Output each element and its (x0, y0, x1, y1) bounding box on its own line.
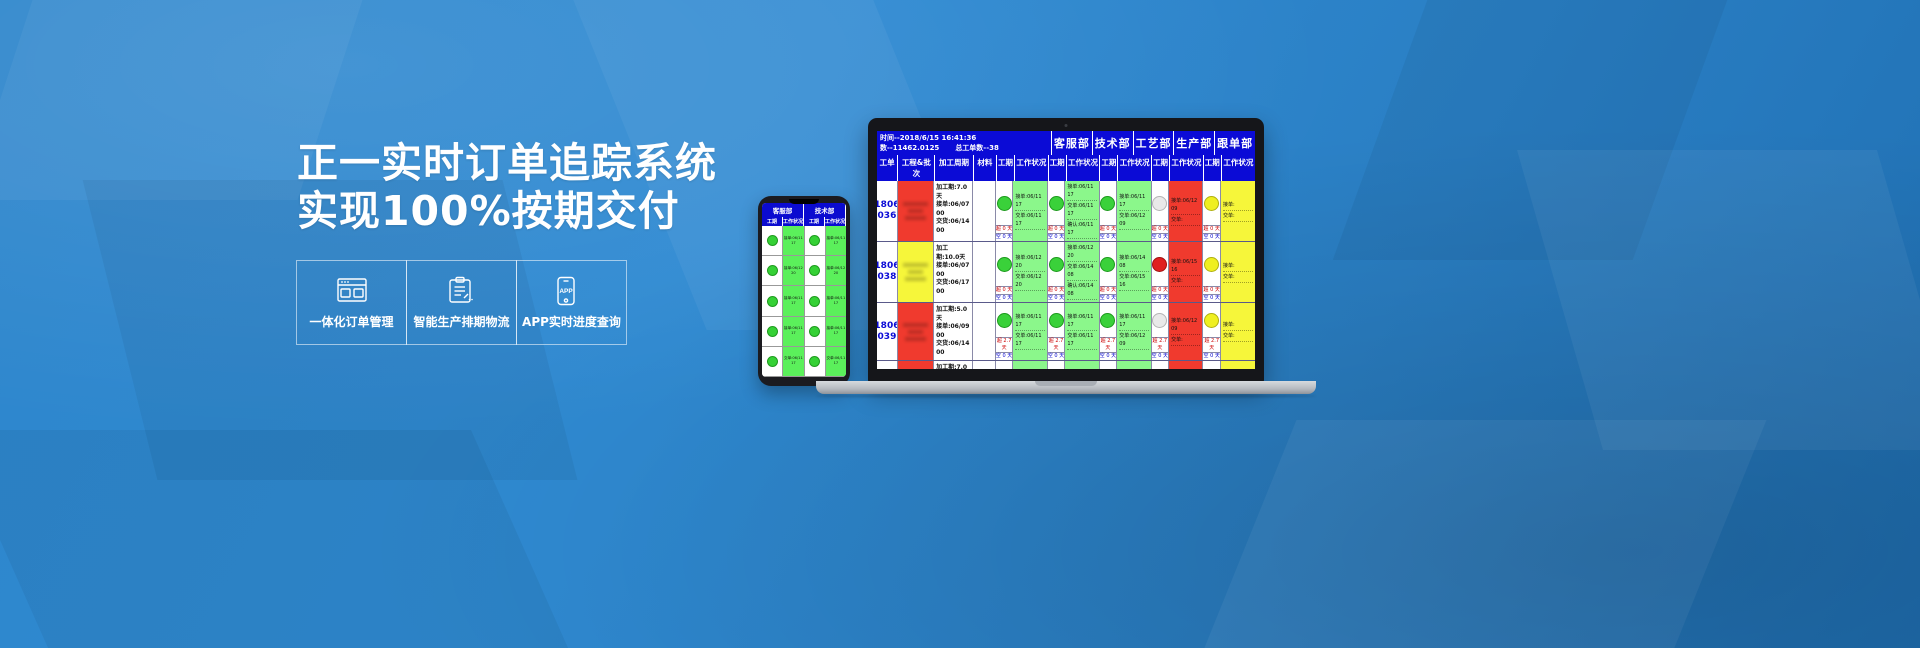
headline-block: 正一实时订单追踪系统 实现100%按期交付 (297, 139, 717, 235)
status-dot-green (1049, 313, 1064, 328)
laptop-lid: 时间--2018/6/15 16:41:36 数--11462.0125 总工单… (868, 118, 1264, 383)
cell-status[interactable]: 接单:06/11 17交单:06/12 09 (1117, 181, 1151, 241)
dashboard-time: 时间--2018/6/15 16:41:36 (880, 133, 1048, 143)
department-header-followup: 跟单部 (1215, 131, 1255, 155)
phone-column: 工作状况 (783, 217, 804, 226)
status-line: 交单:06/12 20 (1015, 273, 1044, 291)
status-line: 交单:06/11 17 (1067, 332, 1096, 350)
status-dot-green (1100, 196, 1115, 211)
feature-label: 智能生产排期物流 (413, 313, 509, 330)
duration-over-tag: 超 2.7 天 (1100, 337, 1117, 352)
duration-dot-wrap (1100, 361, 1117, 369)
feature-label: APP实时进度查询 (522, 313, 621, 330)
headline-line-1: 正一实时订单追踪系统 (297, 139, 717, 187)
column-status-cs: 工作状况 (1015, 155, 1049, 181)
duration-over-tag: 超 0 天 (996, 225, 1013, 233)
feature-smart-scheduling[interactable]: 智能生产排期物流 (406, 260, 517, 345)
phone-status-text: 接单:06/12 20 (783, 266, 803, 276)
status-line: 接单:06/11 17 (1067, 183, 1096, 201)
feature-app-progress[interactable]: APP APP实时进度查询 (516, 260, 627, 345)
dashboard-rows: 1806036加工期:7.0天接单:06/07 00交货:06/14 00超 0… (877, 181, 1255, 369)
cell-duration[interactable]: 超 2.7 天空 0 天 (1048, 303, 1066, 360)
status-line: 接单: (1223, 321, 1253, 331)
dashboard-total: 总工单数--38 (955, 143, 999, 153)
phone-status-dot-cell[interactable] (762, 256, 782, 286)
laptop-base-notch (1035, 381, 1097, 386)
duration-remain-tag: 空 0 天 (1048, 294, 1065, 302)
duration-over-tag: 超 0 天 (1048, 225, 1065, 233)
duration-remain-tag: 空 0 天 (1100, 233, 1117, 241)
laptop-shadow (816, 394, 1316, 398)
duration-over-tag: 超 0 天 (1203, 225, 1220, 233)
duration-dot-wrap (1152, 303, 1169, 337)
duration-remain-tag: 空 0 天 (1203, 233, 1220, 241)
duration-dot-wrap (1152, 242, 1169, 286)
phone-status-cell[interactable]: 接单:06/11 17 (783, 286, 803, 316)
column-duration-cs: 工期 (997, 155, 1015, 181)
phone-status-dot-cell[interactable] (762, 317, 782, 347)
cell-status[interactable]: 接单:06/11 17交单:06/11 17 (1065, 361, 1099, 369)
status-line: 交单: (1171, 216, 1200, 226)
column-project: 工程&批次 (898, 155, 935, 181)
cycle-line: 交货:06/14 00 (936, 218, 970, 235)
phone-status-cell[interactable]: 接单:06/11 17 (783, 317, 803, 347)
cell-material (973, 303, 996, 360)
cell-duration[interactable]: 超 0 天空 0 天 (1048, 181, 1066, 241)
cell-duration[interactable]: 超 0 天空 0 天 (1152, 181, 1170, 241)
cycle-line: 交货:06/17 00 (936, 279, 970, 296)
column-duration-followup: 工期 (1204, 155, 1222, 181)
order-management-icon (335, 276, 369, 306)
duration-dot-wrap (996, 361, 1013, 369)
cell-material (973, 181, 996, 241)
duration-dot-wrap (1048, 181, 1065, 225)
webcam-icon (1065, 124, 1068, 127)
dashboard-column-header: 工单 工程&批次 加工周期 材料 工期 工作状况 工期 工作状况 工期 工作状况… (877, 155, 1255, 181)
phone-status-cell[interactable]: 接单:06/11 17 (783, 226, 803, 256)
phone-status-cell[interactable]: 接单:06/12 20 (783, 256, 803, 286)
duration-remain-tag: 空 0 天 (1152, 352, 1169, 360)
status-dot-red (1152, 257, 1167, 272)
duration-remain-tag: 空 0 天 (1048, 233, 1065, 241)
background-facet (1517, 150, 1920, 450)
cell-status[interactable]: 接单:06/11 17交单:06/11 17 (1013, 361, 1047, 369)
duration-dot-wrap (996, 242, 1013, 286)
project-redacted-text (898, 361, 933, 369)
phone-status-text: 接单:06/11 17 (783, 236, 803, 246)
duration-remain-tag: 空 0 天 (1203, 294, 1220, 302)
cell-status[interactable]: 接单:06/11 17交单:06/11 17确认:06/11 17 (1065, 181, 1099, 241)
work-order-prefix: 1806 (877, 200, 898, 211)
cell-project-batch (898, 181, 934, 241)
cell-material (973, 242, 996, 302)
cell-project-batch (898, 361, 934, 369)
cell-duration[interactable]: 超 0 天空 1 天 (996, 361, 1014, 369)
duration-remain-tag: 空 0 天 (996, 233, 1013, 241)
duration-over-tag: 超 0 天 (1203, 286, 1220, 294)
duration-dot-wrap (1203, 242, 1220, 286)
status-line: 交单:06/11 17 (1067, 202, 1096, 220)
duration-over-tag: 超 0 天 (1152, 225, 1169, 233)
duration-remain-tag: 空 0 天 (1152, 233, 1169, 241)
background-facet (0, 430, 569, 648)
duration-remain-tag: 空 0 天 (1048, 352, 1065, 360)
cell-status[interactable]: 接单:06/12 09交单: (1169, 303, 1203, 360)
status-dot-yellow (1204, 313, 1219, 328)
status-line: 交单:06/11 17 (1015, 212, 1044, 230)
cell-duration[interactable]: 超 2.7 天空 0 天 (1100, 303, 1118, 360)
column-material: 材料 (974, 155, 997, 181)
cell-duration[interactable]: 超 0 天空 1 天 (1152, 361, 1170, 369)
cell-status[interactable]: 接单:06/12 20交单:06/12 20 (1013, 242, 1047, 302)
cell-status[interactable]: 接单:交单: (1221, 361, 1255, 369)
status-line: 接单: (1223, 262, 1253, 272)
duration-dot-wrap (1152, 181, 1169, 225)
phone-column-status-cs: 接单:06/11 17 接单:06/12 20 接单:06/11 17 接单:0… (783, 226, 804, 377)
duration-over-tag: 超 2.7 天 (1203, 337, 1220, 352)
cell-status[interactable]: 接单:06/12 20交单:06/14 08确认:06/14 08 (1065, 242, 1099, 302)
status-line: 交单:06/11 17 (1015, 332, 1044, 350)
duration-dot-wrap (1048, 361, 1065, 369)
duration-remain-tag: 空 0 天 (1152, 294, 1169, 302)
duration-remain-tag: 空 0 天 (996, 352, 1013, 360)
status-dot-yellow (1204, 196, 1219, 211)
cell-duration[interactable]: 超 2.7 天空 0 天 (1152, 303, 1170, 360)
cell-duration[interactable]: 超 0 天空 0 天 (1152, 242, 1170, 302)
phone-status-text: 交单:06/11 17 (783, 356, 803, 366)
cell-work-order: 1806039 (877, 303, 898, 360)
promo-banner: 正一实时订单追踪系统 实现100%按期交付 一体化订单管理 (0, 0, 1920, 648)
cell-duration[interactable]: 超 0 天空 1 天 (1100, 361, 1118, 369)
phone-column: 工期 (762, 217, 783, 226)
status-dot-green (767, 356, 778, 367)
phone-status-text: 接单:06/11 17 (783, 296, 803, 306)
status-dot-green (1100, 313, 1115, 328)
cycle-line: 加工期:7.0天 (936, 364, 970, 369)
work-order-suffix: 038 (877, 272, 898, 283)
cell-duration[interactable]: 超 0 天空 0 天 (1100, 181, 1118, 241)
column-cycle: 加工周期 (935, 155, 973, 181)
cell-cycle: 加工期:10.0天接单:06/07 00交货:06/17 00 (934, 242, 973, 302)
phone-column-duration-cs (762, 226, 783, 377)
status-dot-green (997, 313, 1012, 328)
feature-label: 一体化订单管理 (309, 313, 393, 330)
project-redacted-text (898, 303, 933, 360)
phone-status-text: 接单:06/11 17 (783, 326, 803, 336)
cycle-line: 接单:06/07 00 (936, 262, 970, 279)
cell-cycle: 加工期:5.0天接单:06/09 00交货:06/14 00 (934, 303, 973, 360)
cell-project-batch (898, 242, 934, 302)
status-line: 接单:06/12 20 (1067, 244, 1096, 262)
phone-status-dot-cell[interactable] (762, 226, 782, 256)
status-line: 交单: (1223, 273, 1253, 283)
duration-over-tag: 超 2.7 天 (1152, 337, 1169, 352)
column-duration-process: 工期 (1100, 155, 1118, 181)
status-line: 接单:06/15 16 (1171, 258, 1200, 276)
status-line: 接单:06/11 17 (1119, 313, 1148, 331)
phone-status-dot-cell[interactable] (762, 347, 782, 377)
duration-dot-wrap (1048, 242, 1065, 286)
dashboard-screen: 时间--2018/6/15 16:41:36 数--11462.0125 总工单… (877, 131, 1255, 369)
table-row[interactable]: 1806040加工期:7.0天接单:06/08 00交货:06/15 00超 0… (877, 361, 1255, 369)
cell-cycle: 加工期:7.0天接单:06/08 00交货:06/15 00 (934, 361, 973, 369)
cell-duration[interactable]: 超 0 天空 0 天 (996, 181, 1014, 241)
cell-work-order: 1806038 (877, 242, 898, 302)
feature-list: 一体化订单管理 智能生产排期物流 (297, 260, 627, 345)
cell-status[interactable]: 接单:06/11 17交单:06/12 09 (1117, 303, 1151, 360)
dashboard-meta: 时间--2018/6/15 16:41:36 数--11462.0125 总工单… (877, 131, 1052, 155)
status-dot-green (997, 196, 1012, 211)
duration-dot-wrap (1100, 242, 1117, 286)
column-work-order: 工单 (877, 155, 898, 181)
cell-duration[interactable]: 超 0 天空 0 天 (1203, 181, 1221, 241)
table-row[interactable]: 1806039加工期:5.0天接单:06/09 00交货:06/14 00超 2… (877, 303, 1255, 361)
cycle-line: 接单:06/07 00 (936, 201, 970, 218)
status-line: 确认:06/14 08 (1067, 282, 1096, 300)
duration-dot-wrap (996, 181, 1013, 225)
work-order-suffix: 039 (877, 332, 898, 343)
status-line: 交单: (1171, 336, 1200, 346)
cell-status[interactable]: 接单:交单: (1169, 361, 1203, 369)
cell-duration[interactable]: 超 0 天空 0 天 (1203, 242, 1221, 302)
status-line: 接单:06/12 20 (1015, 254, 1044, 272)
status-dot-white (1152, 313, 1167, 328)
cell-duration[interactable]: 超 0 天空 0 天 (1100, 242, 1118, 302)
status-line: 交单:06/12 09 (1119, 212, 1148, 230)
cycle-line: 加工期:5.0天 (936, 306, 970, 323)
duration-over-tag: 超 0 天 (1152, 286, 1169, 294)
cell-status[interactable]: 接单:06/12 09交单: (1169, 181, 1203, 241)
column-status-followup: 工作状况 (1222, 155, 1255, 181)
table-row[interactable]: 1806038加工期:10.0天接单:06/07 00交货:06/17 00超 … (877, 242, 1255, 303)
cycle-line: 加工期:10.0天 (936, 245, 970, 262)
status-line: 交单: (1223, 212, 1253, 222)
column-duration-production: 工期 (1152, 155, 1170, 181)
laptop-mockup: 时间--2018/6/15 16:41:36 数--11462.0125 总工单… (816, 118, 1316, 418)
status-dot-green (1100, 257, 1115, 272)
status-line: 接单:06/12 09 (1171, 197, 1200, 215)
cycle-line: 加工期:7.0天 (936, 184, 970, 201)
status-line: 确认:06/11 17 (1067, 221, 1096, 239)
status-line: 接单:06/14 08 (1119, 254, 1148, 272)
column-status-process: 工作状况 (1118, 155, 1152, 181)
status-dot-green (767, 296, 778, 307)
phone-status-cell[interactable]: 交单:06/11 17 (783, 347, 803, 377)
cell-duration[interactable]: 超 0 天空 1 天 (1048, 361, 1066, 369)
table-row[interactable]: 1806036加工期:7.0天接单:06/07 00交货:06/14 00超 0… (877, 181, 1255, 242)
cell-work-order: 1806036 (877, 181, 898, 241)
duration-over-tag: 超 0 天 (1100, 286, 1117, 294)
project-redacted-text (898, 181, 933, 241)
duration-remain-tag: 空 0 天 (996, 294, 1013, 302)
status-dot-green (1049, 257, 1064, 272)
phone-notch (789, 199, 819, 204)
department-header-production: 生产部 (1174, 131, 1215, 155)
status-line: 交单:06/15 16 (1119, 273, 1148, 291)
cell-cycle: 加工期:7.0天接单:06/07 00交货:06/14 00 (934, 181, 973, 241)
cycle-line: 接单:06/09 00 (936, 323, 970, 340)
dashboard-number: 数--11462.0125 (880, 143, 939, 153)
status-line: 接单:06/11 17 (1119, 193, 1148, 211)
status-line: 交单:06/14 08 (1067, 263, 1096, 281)
duration-dot-wrap (1100, 303, 1117, 337)
work-order-prefix: 1806 (877, 321, 898, 332)
feature-order-management[interactable]: 一体化订单管理 (296, 260, 407, 345)
status-line: 接单:06/12 09 (1171, 317, 1200, 335)
status-dot-green (767, 235, 778, 246)
cell-duration[interactable]: 超 2.7 天空 0 天 (1203, 303, 1221, 360)
cell-duration[interactable]: 超 0 天空 1 天 (1203, 361, 1221, 369)
duration-over-tag: 超 0 天 (996, 286, 1013, 294)
status-line: 接单: (1223, 201, 1253, 211)
duration-dot-wrap (996, 303, 1013, 337)
work-order-suffix: 036 (877, 211, 898, 222)
project-redacted-text (898, 242, 933, 302)
duration-remain-tag: 空 0 天 (1100, 294, 1117, 302)
status-dot-white (1152, 196, 1167, 211)
cell-status[interactable]: 接单:06/14 08交单:06/15 16 (1117, 242, 1151, 302)
background-facet (1204, 420, 1767, 648)
status-line: 交单: (1223, 332, 1253, 342)
mobile-app-icon: APP (555, 276, 589, 306)
duration-dot-wrap (1203, 361, 1220, 369)
phone-department: 客服部 (762, 203, 804, 217)
department-header-customer-service: 客服部 (1052, 131, 1093, 155)
status-line: 交单: (1171, 277, 1200, 287)
cell-status[interactable]: 接单:06/11 17交单:06/11 17 (1013, 303, 1047, 360)
column-duration-tech: 工期 (1049, 155, 1067, 181)
dashboard-header: 时间--2018/6/15 16:41:36 数--11462.0125 总工单… (877, 131, 1255, 155)
duration-remain-tag: 空 0 天 (1100, 352, 1117, 360)
status-dot-yellow (1204, 257, 1219, 272)
duration-dot-wrap (1203, 181, 1220, 225)
duration-dot-wrap (1100, 181, 1117, 225)
duration-dot-wrap (1048, 303, 1065, 337)
cell-duration[interactable]: 超 0 天空 0 天 (996, 242, 1014, 302)
work-order-prefix: 1806 (877, 261, 898, 272)
cell-status[interactable]: 接单:06/11 17交单:06/11 17 (1065, 303, 1099, 360)
cell-status[interactable]: 接单:06/11 17交单:06/11 17 (1013, 181, 1047, 241)
duration-over-tag: 超 2.7 天 (996, 337, 1013, 352)
column-status-production: 工作状况 (1170, 155, 1204, 181)
column-status-tech: 工作状况 (1067, 155, 1101, 181)
cell-work-order: 1806040 (877, 361, 898, 369)
department-header-process: 工艺部 (1134, 131, 1175, 155)
cycle-line: 交货:06/14 00 (936, 340, 970, 357)
cell-project-batch (898, 303, 934, 360)
cell-status[interactable]: 接单:交单: (1221, 242, 1255, 302)
department-header-technical: 技术部 (1093, 131, 1134, 155)
duration-dot-wrap (1203, 303, 1220, 337)
cell-material (973, 361, 996, 369)
cell-duration[interactable]: 超 0 天空 0 天 (1048, 242, 1066, 302)
duration-remain-tag: 空 0 天 (1203, 352, 1220, 360)
status-dot-green (997, 257, 1012, 272)
status-dot-green (1049, 196, 1064, 211)
duration-over-tag: 超 2.7 天 (1048, 337, 1065, 352)
svg-text:APP: APP (559, 288, 573, 295)
clipboard-schedule-icon (445, 276, 479, 306)
headline-line-2: 实现100%按期交付 (297, 187, 717, 235)
status-line: 接单:06/11 17 (1015, 193, 1044, 211)
phone-status-dot-cell[interactable] (762, 286, 782, 316)
status-line: 交单:06/12 09 (1119, 332, 1148, 350)
cell-status[interactable]: 接单:交单: (1221, 303, 1255, 360)
duration-dot-wrap (1152, 361, 1169, 369)
duration-over-tag: 超 0 天 (1100, 225, 1117, 233)
status-dot-green (767, 326, 778, 337)
cell-status[interactable]: 接单:06/11 17交单:06/11 17 (1117, 361, 1151, 369)
cell-duration[interactable]: 超 2.7 天空 0 天 (996, 303, 1014, 360)
status-dot-green (767, 265, 778, 276)
status-line: 接单:06/11 17 (1015, 313, 1044, 331)
duration-over-tag: 超 0 天 (1048, 286, 1065, 294)
cell-status[interactable]: 接单:06/15 16交单: (1169, 242, 1203, 302)
status-line: 接单:06/11 17 (1067, 313, 1096, 331)
laptop-base (816, 381, 1316, 394)
cell-status[interactable]: 接单:交单: (1221, 181, 1255, 241)
